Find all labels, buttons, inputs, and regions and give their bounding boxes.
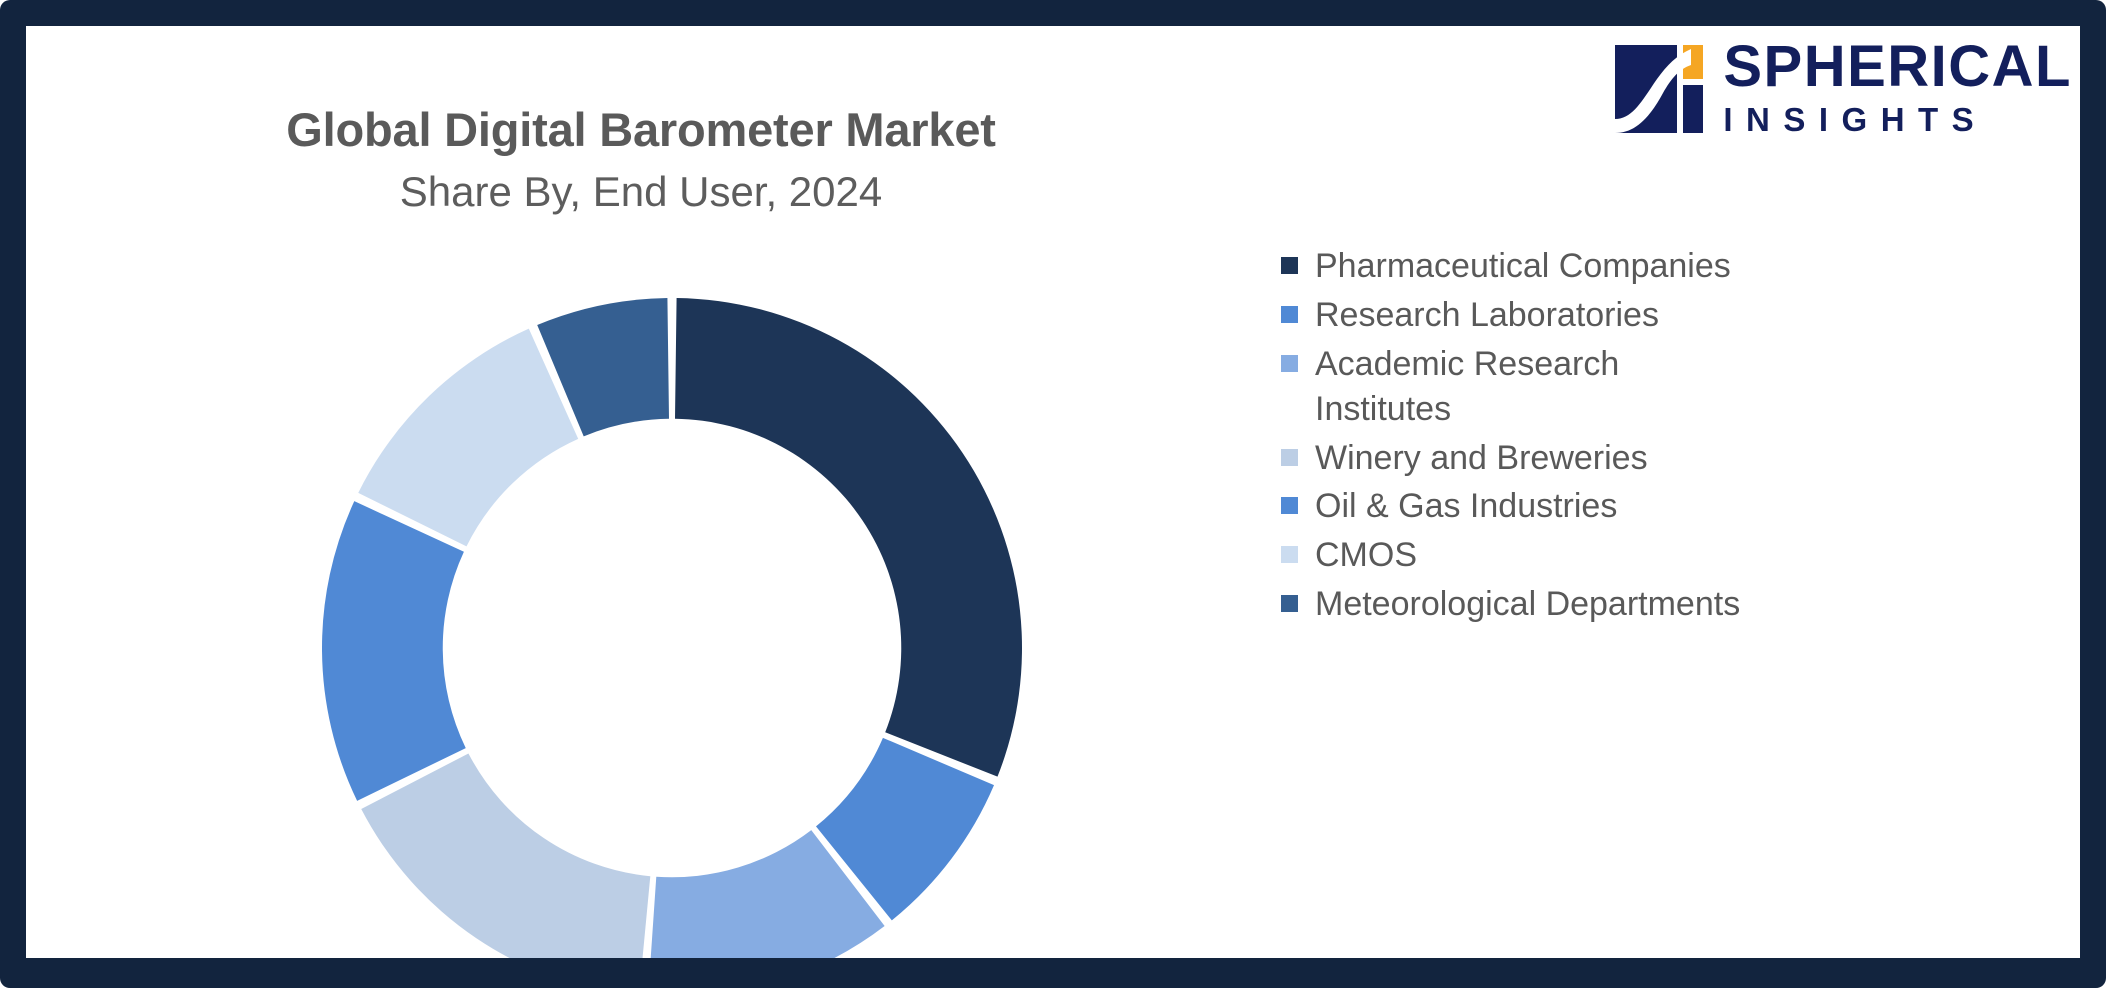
donut-slice xyxy=(322,501,466,801)
logo-name-main: SPHERICAL xyxy=(1723,38,2072,96)
legend-swatch-icon xyxy=(1281,355,1298,372)
legend-swatch-icon xyxy=(1281,497,1298,514)
legend-item-label: Meteorological Departments xyxy=(1315,582,1740,627)
legend-item[interactable]: Winery and Breweries xyxy=(1281,436,1901,481)
legend-swatch-icon xyxy=(1281,449,1298,466)
chart-legend: Pharmaceutical CompaniesResearch Laborat… xyxy=(1281,244,1901,631)
chart-canvas: Global Digital Barometer Market Share By… xyxy=(26,26,2080,958)
donut-slice xyxy=(358,329,578,547)
legend-item[interactable]: Pharmaceutical Companies xyxy=(1281,244,1901,289)
legend-item[interactable]: Research Laboratories xyxy=(1281,293,1901,338)
donut-chart-svg xyxy=(322,298,1022,958)
title-block: Global Digital Barometer Market Share By… xyxy=(26,104,1256,215)
legend-item-label: Pharmaceutical Companies xyxy=(1315,244,1731,289)
legend-item-label: CMOS xyxy=(1315,533,1417,578)
logo-wordmark: SPHERICAL INSIGHTS xyxy=(1723,38,2072,136)
spherical-insights-logo-icon xyxy=(1613,39,1709,135)
legend-swatch-icon xyxy=(1281,546,1298,563)
legend-item[interactable]: Academic Research Institutes xyxy=(1281,342,1901,432)
legend-item-label: Oil & Gas Industries xyxy=(1315,484,1617,529)
chart-frame: Global Digital Barometer Market Share By… xyxy=(0,0,2106,988)
legend-item[interactable]: CMOS xyxy=(1281,533,1901,578)
brand-logo: SPHERICAL INSIGHTS xyxy=(1613,38,2072,136)
legend-swatch-icon xyxy=(1281,306,1298,323)
page-subtitle: Share By, End User, 2024 xyxy=(26,168,1256,215)
donut-slices xyxy=(322,298,1022,958)
legend-item[interactable]: Oil & Gas Industries xyxy=(1281,484,1901,529)
legend-item[interactable]: Meteorological Departments xyxy=(1281,582,1901,627)
legend-item-label: Research Laboratories xyxy=(1315,293,1659,338)
legend-item-label: Winery and Breweries xyxy=(1315,436,1648,481)
legend-swatch-icon xyxy=(1281,595,1298,612)
donut-slice xyxy=(361,753,650,958)
logo-name-sub: INSIGHTS xyxy=(1723,103,2072,136)
donut-slice xyxy=(675,298,1022,777)
page-title: Global Digital Barometer Market xyxy=(26,104,1256,157)
legend-swatch-icon xyxy=(1281,257,1298,274)
donut-chart xyxy=(322,298,1022,958)
legend-item-label: Academic Research Institutes xyxy=(1315,342,1745,432)
